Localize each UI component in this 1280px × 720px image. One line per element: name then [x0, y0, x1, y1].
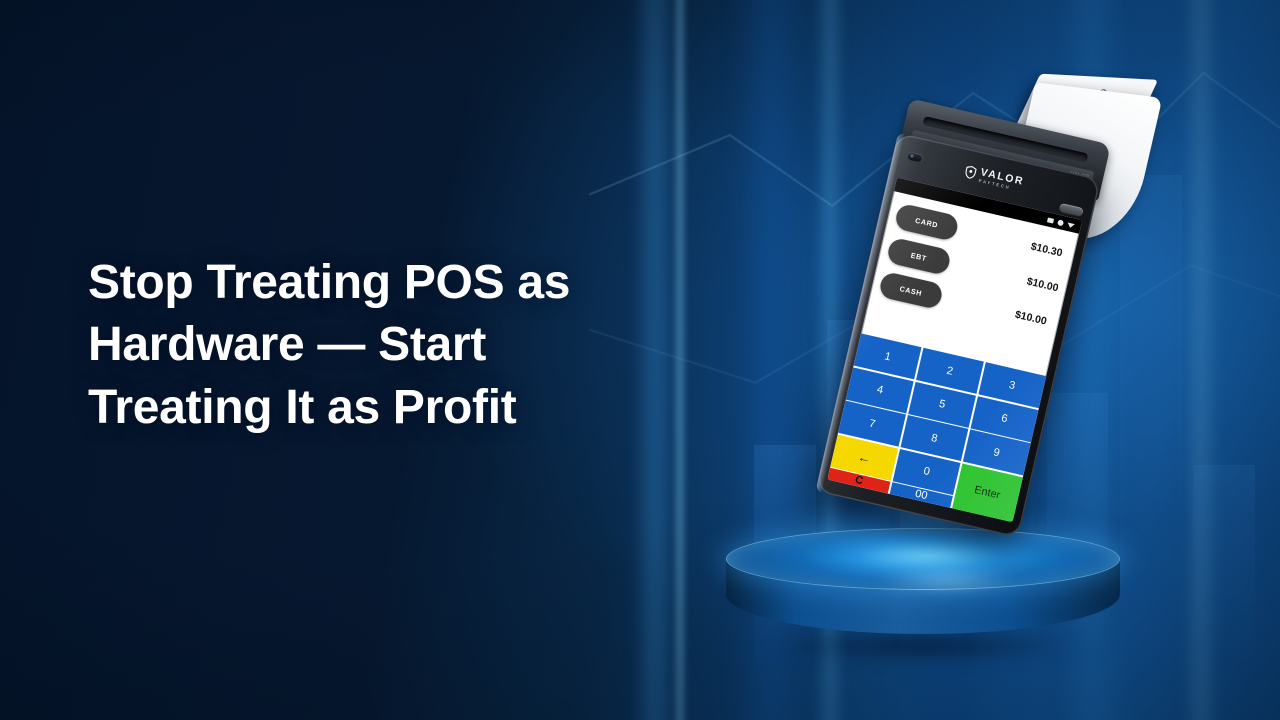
- payment-amount: $10.00: [940, 292, 1052, 329]
- payment-method-button[interactable]: CASH: [878, 271, 944, 310]
- payment-method-button[interactable]: CARD: [894, 203, 960, 242]
- signal-icon: [1056, 218, 1064, 226]
- headline-line: Stop Treating POS as: [88, 252, 748, 314]
- brand-text: VALOR PAYTECH: [978, 167, 1025, 193]
- headline-line: Treating It as Profit: [88, 377, 748, 439]
- shield-icon: [964, 165, 978, 180]
- pedestal-reflection: [846, 568, 1046, 598]
- pedestal: [726, 528, 1120, 656]
- battery-icon: [1047, 216, 1055, 224]
- headline-line: Hardware — Start: [88, 314, 748, 376]
- payment-method-button[interactable]: EBT: [886, 237, 952, 276]
- page-title: Stop Treating POS as Hardware — Start Tr…: [88, 252, 748, 439]
- valor-logo: VALOR PAYTECH: [964, 164, 1026, 193]
- hero-banner: VALOR VALOR VALOR PAYTECH: [0, 0, 1280, 720]
- wifi-icon: [1066, 220, 1075, 229]
